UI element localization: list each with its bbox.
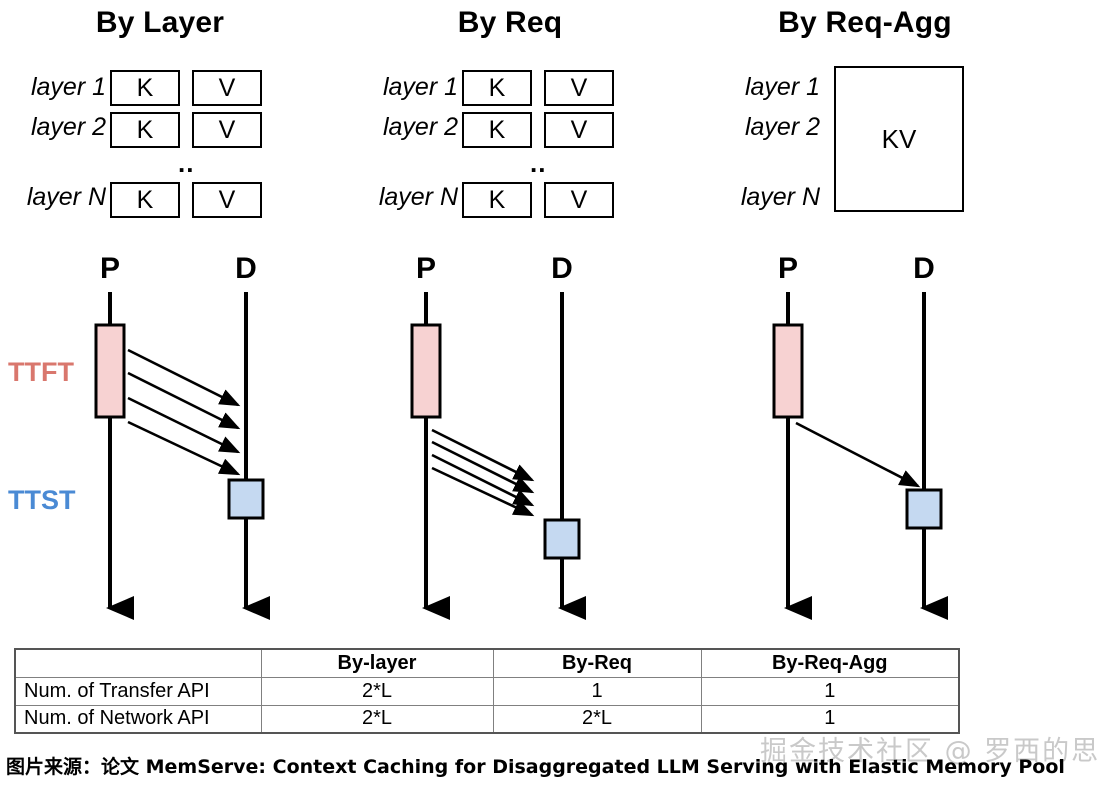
table-cell-network-by-req: 2*L xyxy=(493,705,701,733)
timeline1-transfer-arrow-2 xyxy=(128,373,238,428)
timeline2-transfer-arrow-3 xyxy=(432,455,532,505)
ellipsis-col2: .. xyxy=(530,160,546,166)
timeline3-transfer-arrow-1 xyxy=(796,423,918,486)
timeline2-decode-block xyxy=(545,520,579,558)
kv-box-k-l1-col1: K xyxy=(110,70,180,106)
layer-label-2-col3: layer 2 xyxy=(710,113,820,142)
timeline2-transfer-arrow-4 xyxy=(432,468,532,515)
table-header-by-layer: By-layer xyxy=(261,649,493,677)
layer-label-2-col1: layer 2 xyxy=(6,113,106,142)
table-cell-transfer-by-req: 1 xyxy=(493,677,701,705)
layer-label-n-col1: layer N xyxy=(6,183,106,212)
timeline-diagram-by-req-agg xyxy=(678,240,1018,640)
kv-box-v-l1-col1: V xyxy=(192,70,262,106)
layer-label-2-col2: layer 2 xyxy=(358,113,458,142)
column-title-by-req-agg: By Req-Agg xyxy=(715,6,1015,40)
kv-box-k-ln-col1: K xyxy=(110,182,180,218)
kv-box-k-l2-col1: K xyxy=(110,112,180,148)
table-cell-transfer-by-layer: 2*L xyxy=(261,677,493,705)
timeline-diagram-by-layer xyxy=(0,240,340,640)
kv-box-v-ln-col1: V xyxy=(192,182,262,218)
table-header-by-req-agg: By-Req-Agg xyxy=(701,649,959,677)
kv-box-aggregated: KV xyxy=(834,66,964,212)
layer-label-n-col3: layer N xyxy=(710,183,820,212)
table-header-row: By-layer By-Req By-Req-Agg xyxy=(15,649,959,677)
column-title-by-req: By Req xyxy=(380,6,640,40)
timeline2-prefill-block xyxy=(412,325,440,417)
timeline1-decode-block xyxy=(229,480,263,518)
timeline3-decode-block xyxy=(907,490,941,528)
kv-box-v-l1-col2: V xyxy=(544,70,614,106)
timeline-diagram-by-req xyxy=(316,240,656,640)
table-row-label-network-api: Num. of Network API xyxy=(15,705,261,733)
timeline1-prefill-block xyxy=(96,325,124,417)
timeline1-transfer-arrow-3 xyxy=(128,398,238,452)
timeline3-prefill-block xyxy=(774,325,802,417)
kv-box-v-ln-col2: V xyxy=(544,182,614,218)
table-cell-transfer-by-req-agg: 1 xyxy=(701,677,959,705)
layer-label-1-col3: layer 1 xyxy=(710,73,820,102)
comparison-table: By-layer By-Req By-Req-Agg Num. of Trans… xyxy=(14,648,960,734)
kv-box-k-l2-col2: K xyxy=(462,112,532,148)
timeline2-transfer-arrow-2 xyxy=(432,442,532,492)
table-header-by-req: By-Req xyxy=(493,649,701,677)
timeline2-transfer-arrow-1 xyxy=(432,430,532,480)
layer-label-n-col2: layer N xyxy=(358,183,458,212)
timeline1-transfer-arrow-4 xyxy=(128,422,238,474)
table-row: Num. of Transfer API 2*L 1 1 xyxy=(15,677,959,705)
table-cell-network-by-layer: 2*L xyxy=(261,705,493,733)
column-title-by-layer: By Layer xyxy=(30,6,290,40)
source-caption: 图片来源：论文 MemServe: Context Caching for Di… xyxy=(6,752,1065,779)
layer-label-1-col2: layer 1 xyxy=(358,73,458,102)
ellipsis-col1: .. xyxy=(178,160,194,166)
table-row-label-transfer-api: Num. of Transfer API xyxy=(15,677,261,705)
kv-box-k-l1-col2: K xyxy=(462,70,532,106)
figure-canvas: By Layer By Req By Req-Agg layer 1 K V l… xyxy=(0,0,1101,785)
layer-label-1-col1: layer 1 xyxy=(6,73,106,102)
kv-box-v-l2-col2: V xyxy=(544,112,614,148)
kv-box-k-ln-col2: K xyxy=(462,182,532,218)
timeline1-transfer-arrow-1 xyxy=(128,350,238,405)
kv-box-v-l2-col1: V xyxy=(192,112,262,148)
table-header-blank xyxy=(15,649,261,677)
